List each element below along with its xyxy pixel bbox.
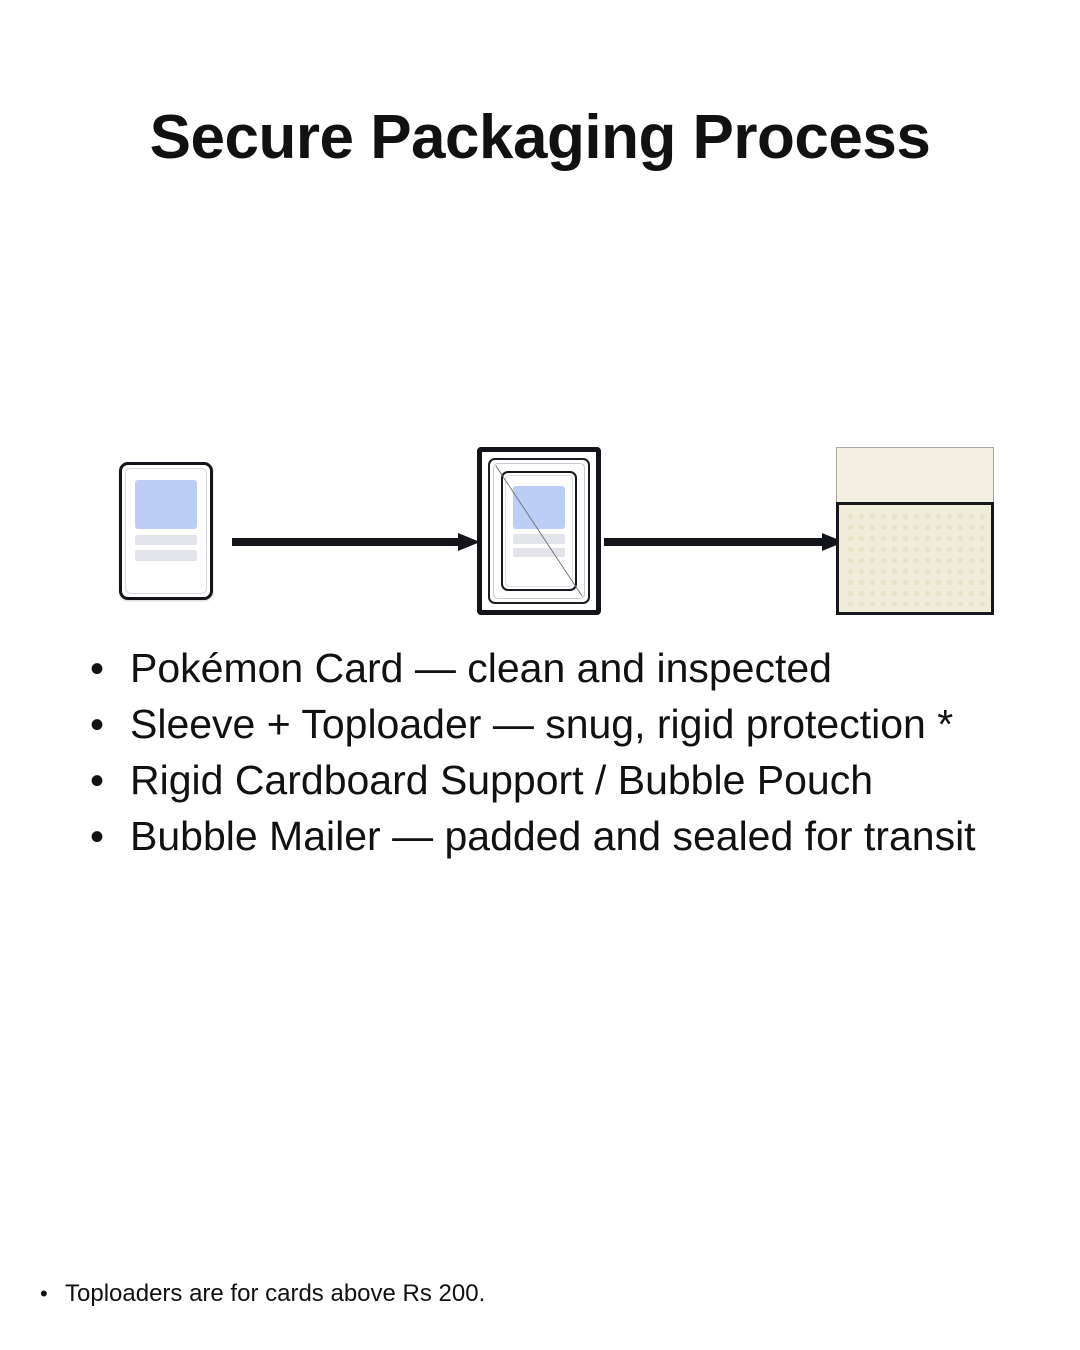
list-item: • Bubble Mailer — padded and sealed for …: [90, 816, 1050, 872]
card-face: [125, 468, 207, 594]
pokemon-card-graphic-sleeved: [501, 471, 577, 591]
packaging-steps-list: • Pokémon Card — clean and inspected • S…: [90, 648, 1050, 872]
bullet-marker-icon: •: [90, 817, 130, 857]
bullet-marker-icon: •: [40, 1283, 65, 1305]
bullet-marker-icon: •: [90, 705, 130, 745]
card-artwork-block: [513, 486, 564, 529]
list-item-label: Bubble Mailer — padded and sealed for tr…: [130, 816, 976, 857]
list-item: • Rigid Cardboard Support / Bubble Pouch: [90, 760, 1050, 816]
arrow-card-to-toploader-icon: [232, 531, 480, 553]
footnote: • Toploaders are for cards above Rs 200.: [40, 1282, 485, 1306]
bullet-marker-icon: •: [90, 761, 130, 801]
mailer-flap: [836, 447, 994, 504]
list-item: • Sleeve + Toploader — snug, rigid prote…: [90, 704, 1050, 760]
card-text-bar: [135, 535, 197, 546]
footnote-label: Toploaders are for cards above Rs 200.: [65, 1282, 485, 1306]
page-title: Secure Packaging Process: [0, 104, 1080, 172]
card-artwork-block: [135, 480, 197, 528]
list-item-label: Sleeve + Toploader — snug, rigid protect…: [130, 704, 953, 745]
mailer-body: [836, 502, 994, 615]
pokemon-card-graphic: [119, 462, 213, 600]
arrow-toploader-to-mailer-icon: [604, 531, 844, 553]
packaging-process-diagram: [0, 420, 1080, 640]
list-item-label: Rigid Cardboard Support / Bubble Pouch: [130, 760, 873, 801]
card-text-bar: [513, 548, 564, 557]
bubble-wrap-texture: [845, 511, 985, 606]
toploader-graphic: [477, 447, 601, 615]
list-item: • Pokémon Card — clean and inspected: [90, 648, 1050, 704]
card-text-bar: [135, 550, 197, 561]
sleeve-graphic: [488, 458, 590, 604]
list-item-label: Pokémon Card — clean and inspected: [130, 648, 832, 689]
bullet-marker-icon: •: [90, 649, 130, 689]
card-text-bar: [513, 534, 564, 543]
card-face: [505, 475, 573, 587]
bubble-mailer-graphic: [836, 447, 994, 615]
